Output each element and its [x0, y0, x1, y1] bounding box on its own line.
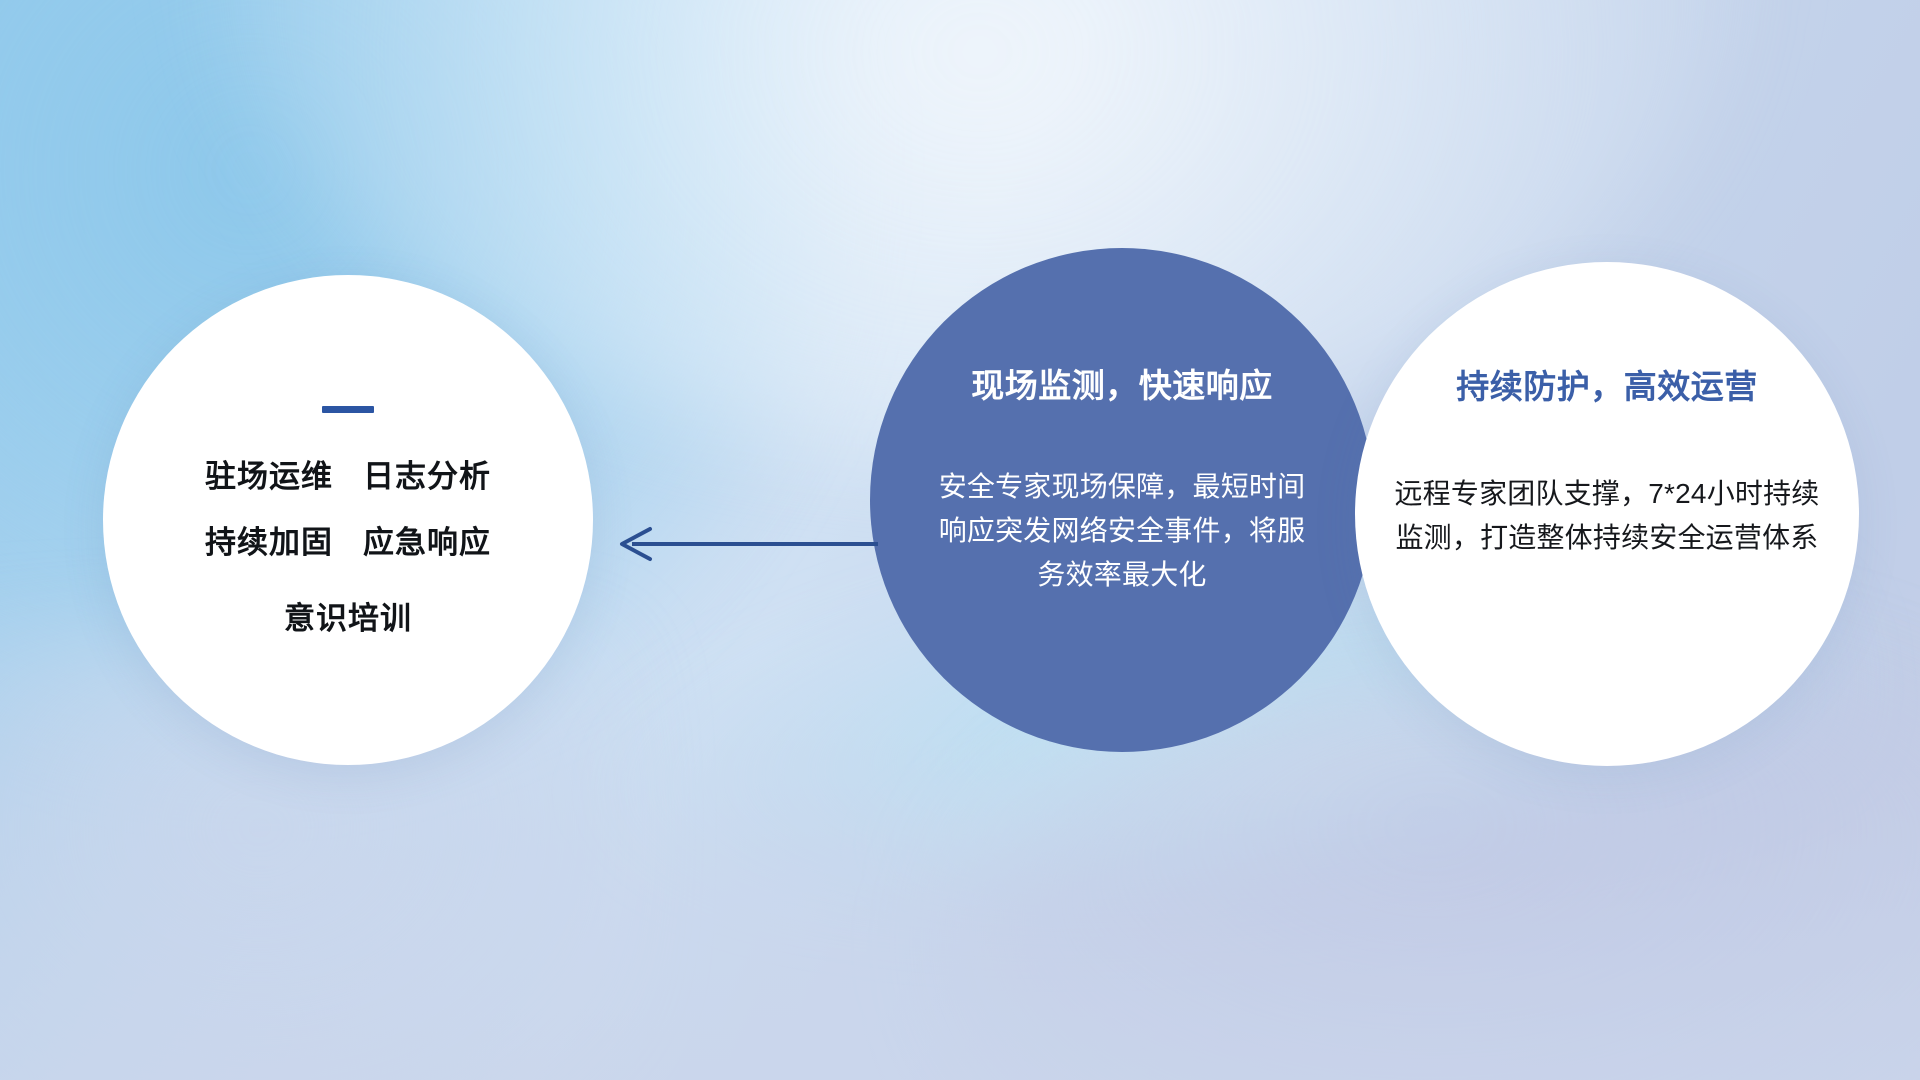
- flow-arrow-left-icon: [606, 522, 882, 566]
- continuous-body: 远程专家团队支撑，7*24小时持续监测，打造整体持续安全运营体系: [1387, 472, 1827, 560]
- capability-log-analysis: 日志分析: [363, 459, 491, 494]
- capability-row-3: 意识培训: [284, 603, 412, 635]
- continuous-title: 持续防护，高效运营: [1456, 360, 1758, 408]
- section-divider: [322, 406, 374, 413]
- slide-canvas: 驻场运维日志分析 持续加固应急响应 意识培训 现场监测，快速响应 安全专家现场保…: [0, 0, 1920, 1080]
- capability-row-1: 驻场运维日志分析: [205, 461, 491, 493]
- capabilities-content: 驻场运维日志分析 持续加固应急响应 意识培训: [103, 275, 593, 765]
- capability-row-2: 持续加固应急响应: [205, 527, 491, 559]
- capability-continuous-hardening: 持续加固: [205, 525, 333, 560]
- circle-onsite-monitoring[interactable]: [870, 248, 1374, 752]
- continuous-operation-content: 持续防护，高效运营 远程专家团队支撑，7*24小时持续监测，打造整体持续安全运营…: [1355, 262, 1859, 766]
- capability-emergency-response: 应急响应: [363, 525, 491, 560]
- capability-onsite-ops: 驻场运维: [205, 459, 333, 494]
- capability-awareness-training: 意识培训: [284, 601, 412, 636]
